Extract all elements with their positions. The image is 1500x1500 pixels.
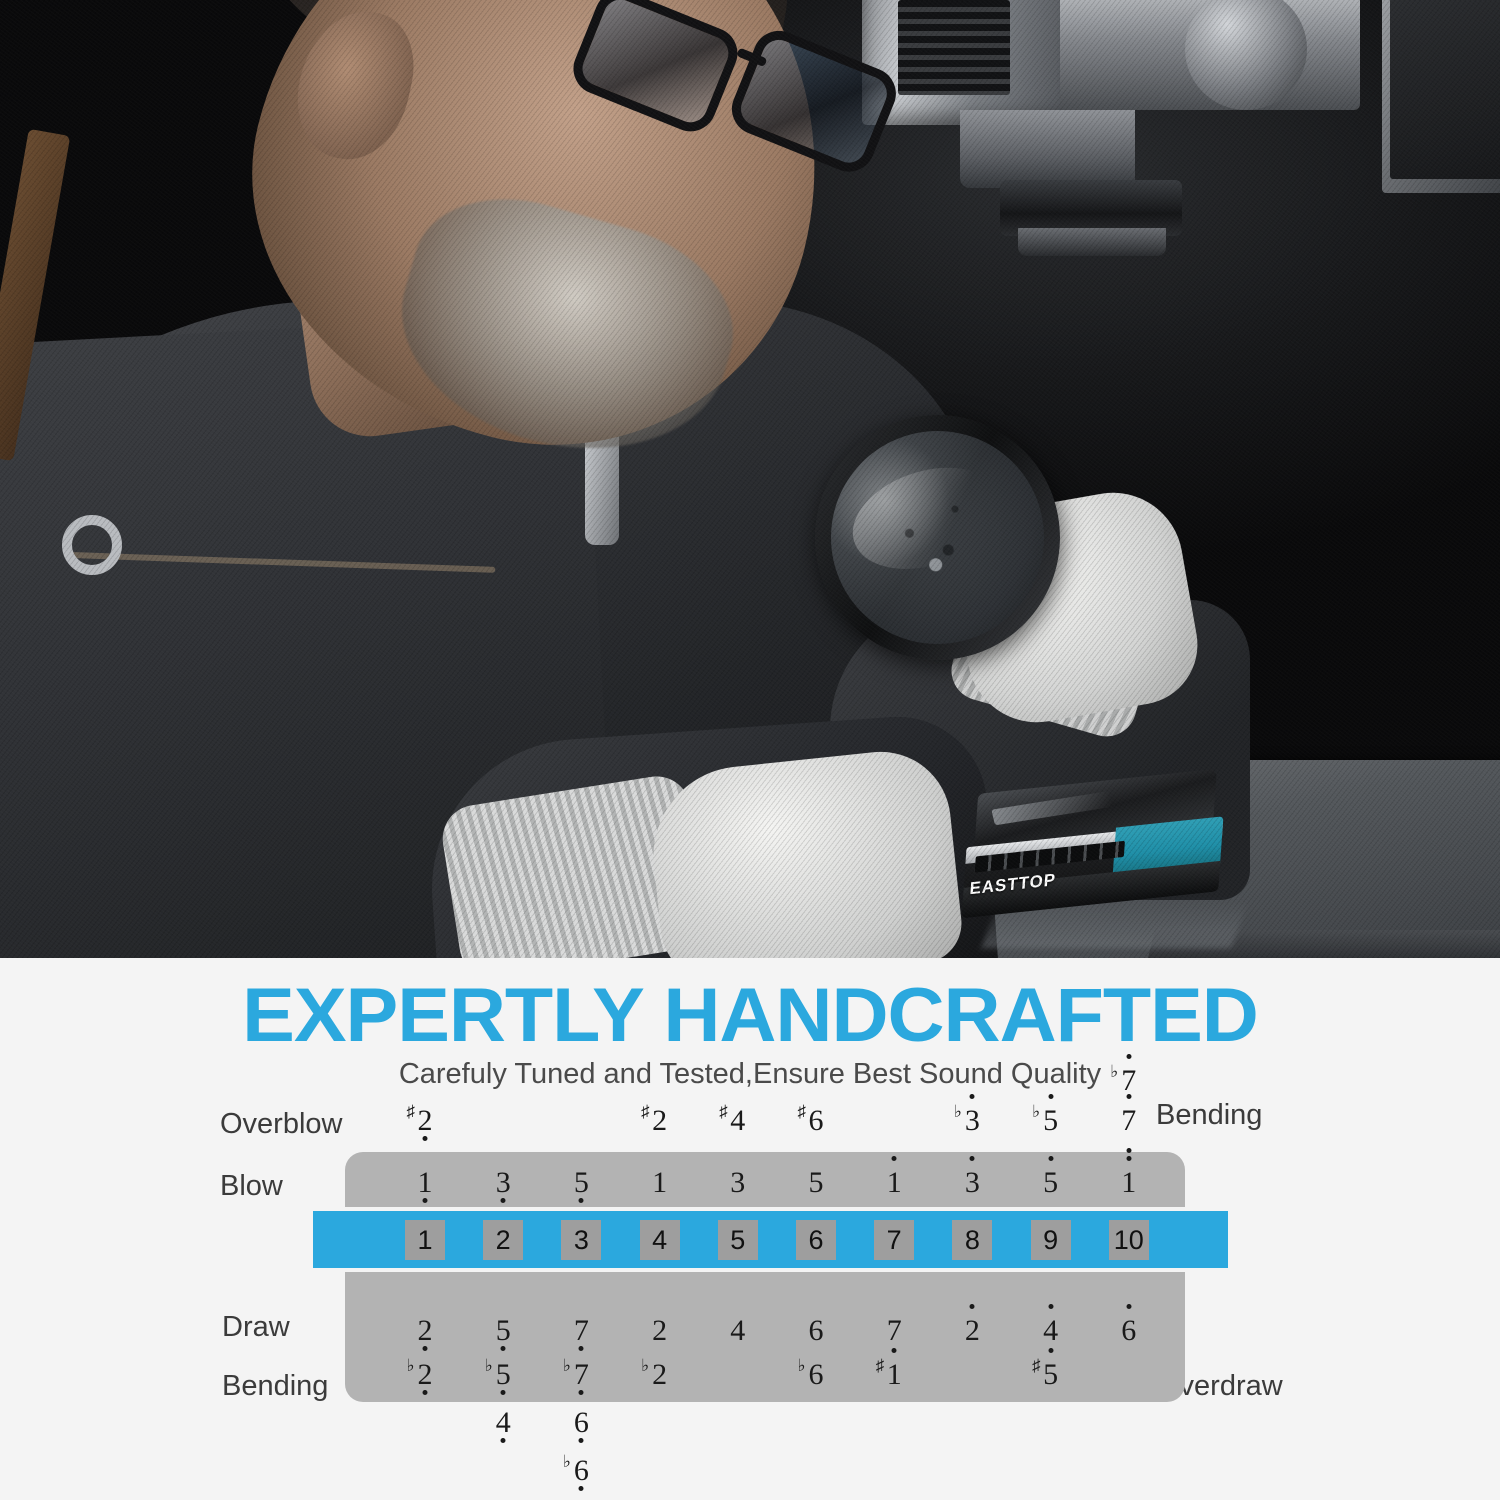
page-subtitle: Carefuly Tuned and Tested,Ensure Best So…	[0, 1058, 1500, 1091]
draw-note: 2	[395, 1316, 455, 1346]
bending-note: 5♭	[473, 1360, 533, 1390]
octave-dot-above	[892, 1348, 897, 1353]
octave-dot-below	[579, 1390, 584, 1395]
hero-photo: EASTTOP	[0, 0, 1500, 958]
octave-dot-below	[579, 1438, 584, 1443]
draw-note: 2	[942, 1316, 1002, 1346]
overblow-note: 2♯	[395, 1106, 455, 1136]
sharp-icon: ♯	[798, 1103, 807, 1120]
octave-dot-above	[970, 1304, 975, 1309]
octave-dot-above	[970, 1156, 975, 1161]
octave-dot-above	[1126, 1304, 1131, 1309]
label-bending-right: Bending	[1156, 1099, 1262, 1132]
page-title: EXPERTLY HANDCRAFTED	[0, 972, 1500, 1059]
bending-note: 4	[473, 1408, 533, 1438]
sharp-icon: ♯	[1032, 1357, 1041, 1374]
blow-note: 1	[1099, 1168, 1159, 1198]
bending-note: 2♭	[630, 1360, 690, 1390]
draw-note: 4	[708, 1316, 768, 1346]
blow-note: 1	[395, 1168, 455, 1198]
hole-number-cell[interactable]: 4	[640, 1220, 680, 1260]
blow-note: 5	[551, 1168, 611, 1198]
octave-dot-below	[423, 1390, 428, 1395]
harmonica-note-chart: Overblow Blow Draw Bending Bending Overd…	[0, 1098, 1500, 1498]
blow-note: 1	[864, 1168, 924, 1198]
label-blow: Blow	[220, 1170, 283, 1203]
overblow-note: 5♭	[1021, 1106, 1081, 1136]
overblow-note: 6♯	[786, 1106, 846, 1136]
hole-row-blue-bar	[313, 1211, 1228, 1268]
bending-note: 1♯	[864, 1360, 924, 1390]
overblow-upper-note: 7♭	[1099, 1066, 1159, 1096]
flat-icon: ♭	[485, 1357, 493, 1374]
octave-dot-above	[1048, 1156, 1053, 1161]
hole-number-cell[interactable]: 6	[796, 1220, 836, 1260]
octave-dot-below	[579, 1486, 584, 1491]
octave-dot-above	[892, 1156, 897, 1161]
flat-icon: ♭	[1110, 1063, 1118, 1080]
draw-note: 5	[473, 1316, 533, 1346]
hole-number-cell[interactable]: 7	[874, 1220, 914, 1260]
flat-icon: ♭	[1032, 1103, 1040, 1120]
octave-dot-below	[423, 1346, 428, 1351]
flat-icon: ♭	[563, 1453, 571, 1470]
sharp-icon: ♯	[641, 1103, 650, 1120]
hole-number-cell[interactable]: 2	[483, 1220, 523, 1260]
sharp-icon: ♯	[719, 1103, 728, 1120]
label-overblow: Overblow	[220, 1108, 343, 1141]
draw-note: 6	[786, 1316, 846, 1346]
blow-note: 3	[473, 1168, 533, 1198]
overblow-note: 2♯	[630, 1106, 690, 1136]
label-bending-left: Bending	[222, 1370, 328, 1403]
octave-dot-below	[501, 1198, 506, 1203]
draw-note: 4	[1021, 1316, 1081, 1346]
bending-note: 6	[551, 1408, 611, 1438]
hole-number-cell[interactable]: 1	[405, 1220, 445, 1260]
octave-dot-above	[1126, 1156, 1131, 1161]
hole-number-cell[interactable]: 9	[1031, 1220, 1071, 1260]
bending-note: 6♭	[786, 1360, 846, 1390]
bending-note: 6♭	[551, 1456, 611, 1486]
octave-dot-below	[423, 1198, 428, 1203]
product-infographic: EASTTOP EXPERTLY HANDCRAFTED Carefuly Tu…	[0, 0, 1500, 1500]
hole-number-cell[interactable]: 8	[952, 1220, 992, 1260]
hole-number-cell[interactable]: 5	[718, 1220, 758, 1260]
octave-dot-below	[501, 1390, 506, 1395]
label-draw: Draw	[222, 1311, 290, 1344]
draw-note: 7	[864, 1316, 924, 1346]
octave-dot-above	[1126, 1148, 1131, 1153]
photo-grain-overlay	[0, 0, 1500, 958]
draw-note: 7	[551, 1316, 611, 1346]
octave-dot-below	[501, 1438, 506, 1443]
bending-note: 5♯	[1021, 1360, 1081, 1390]
flat-icon: ♭	[954, 1103, 962, 1120]
draw-note: 2	[630, 1316, 690, 1346]
blow-note: 5	[786, 1168, 846, 1198]
sharp-icon: ♯	[876, 1357, 885, 1374]
draw-note: 6	[1099, 1316, 1159, 1346]
sharp-icon: ♯	[407, 1103, 416, 1120]
blow-note: 1	[630, 1168, 690, 1198]
octave-dot-above	[1048, 1348, 1053, 1353]
flat-icon: ♭	[407, 1357, 415, 1374]
octave-dot-above	[1126, 1094, 1131, 1099]
blow-note: 5	[1021, 1168, 1081, 1198]
flat-icon: ♭	[798, 1357, 806, 1374]
overblow-note: 7	[1099, 1106, 1159, 1136]
overblow-note: 3♭	[942, 1106, 1002, 1136]
blow-note: 3	[708, 1168, 768, 1198]
bending-note: 2♭	[395, 1360, 455, 1390]
flat-icon: ♭	[563, 1357, 571, 1374]
bending-note: 7♭	[551, 1360, 611, 1390]
overblow-note: 4♯	[708, 1106, 768, 1136]
info-section: EXPERTLY HANDCRAFTED Carefuly Tuned and …	[0, 958, 1500, 1500]
octave-dot-above	[1048, 1094, 1053, 1099]
octave-dot-below	[423, 1136, 428, 1141]
octave-dot-above	[1126, 1054, 1131, 1059]
flat-icon: ♭	[641, 1357, 649, 1374]
blow-note: 3	[942, 1168, 1002, 1198]
octave-dot-above	[970, 1094, 975, 1099]
octave-dot-below	[579, 1198, 584, 1203]
octave-dot-below	[501, 1346, 506, 1351]
octave-dot-below	[579, 1346, 584, 1351]
hole-number-cell[interactable]: 3	[561, 1220, 601, 1260]
hole-number-cell[interactable]: 10	[1109, 1220, 1149, 1260]
octave-dot-above	[1048, 1304, 1053, 1309]
